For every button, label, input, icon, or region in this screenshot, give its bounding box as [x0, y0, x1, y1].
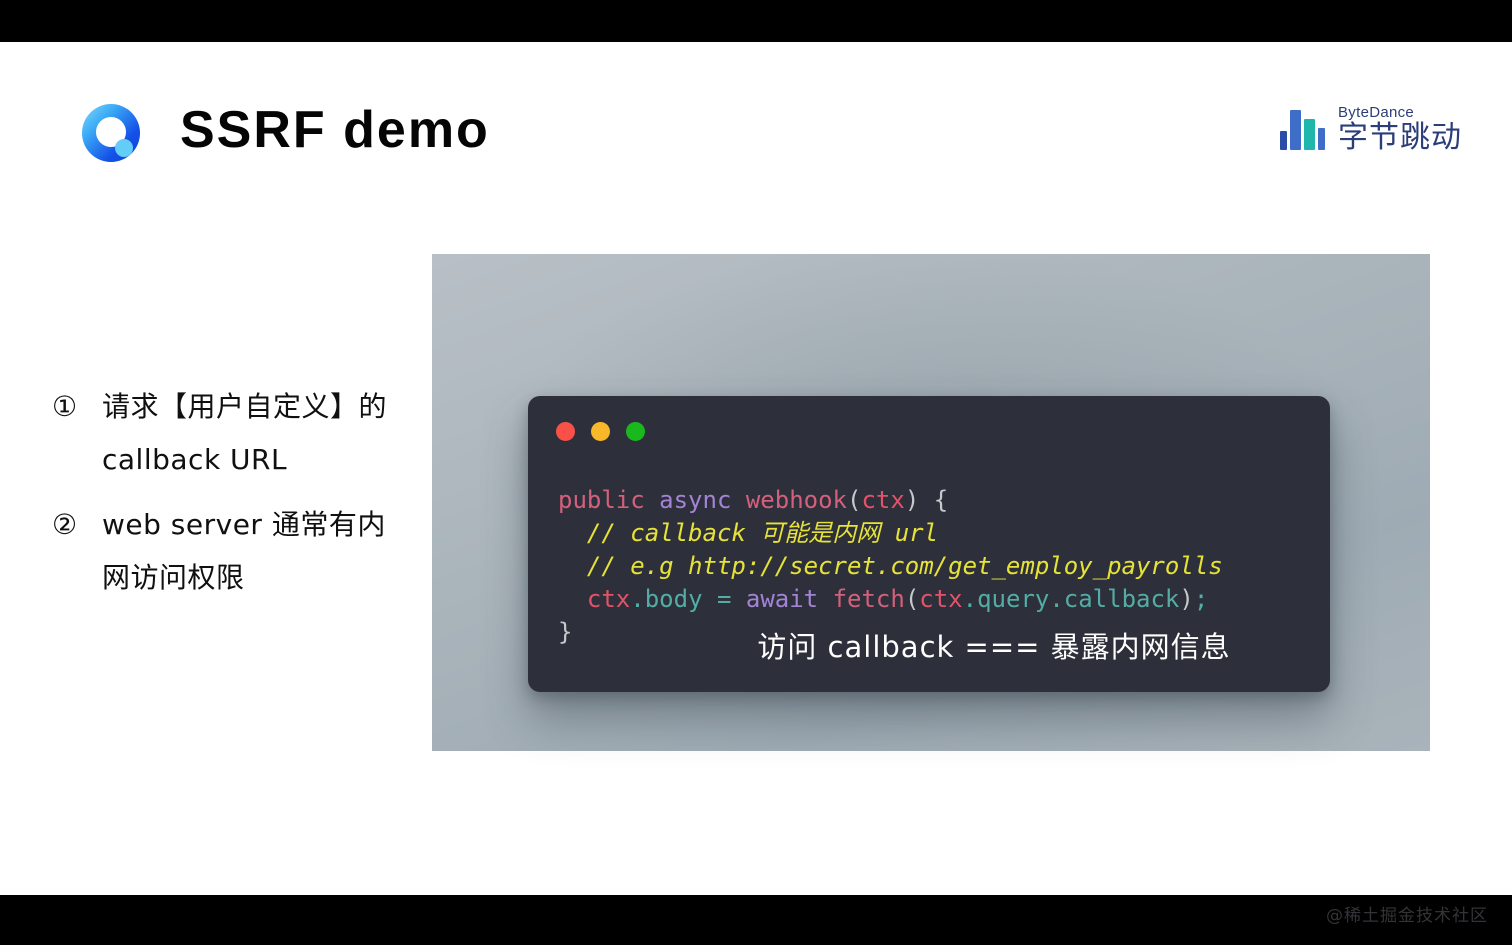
slide-canvas: SSRF demo ByteDance 字节跳动 ① 请求【用户自定义】的 ca…	[0, 42, 1512, 895]
code-token: {	[919, 486, 948, 514]
overlay-annotation: 访问 callback === 暴露内网信息	[528, 624, 1330, 666]
code-token: // e.g http://secret.com/get_employ_payr…	[558, 552, 1223, 580]
code-line: // e.g http://secret.com/get_employ_payr…	[558, 550, 1316, 583]
bytedance-bar-4	[1318, 128, 1325, 150]
code-token	[645, 486, 659, 514]
bullet-text: 请求【用户自定义】的 callback URL	[102, 380, 402, 486]
page-title: SSRF demo	[180, 100, 490, 160]
code-token: await	[746, 585, 818, 613]
code-line: // callback 可能是内网 url	[558, 517, 1316, 550]
bytedance-bar-2	[1290, 110, 1301, 150]
code-token: .query.callback	[963, 585, 1180, 613]
bullet-list: ① 请求【用户自定义】的 callback URL ② web server 通…	[52, 380, 402, 616]
code-window: public async webhook(ctx) { // callback …	[528, 396, 1330, 692]
code-token: .body	[630, 585, 702, 613]
code-token: )	[905, 486, 919, 514]
bullet-marker: ①	[52, 380, 102, 433]
code-token: async	[659, 486, 731, 514]
code-token: =	[703, 585, 746, 613]
code-token: )	[1179, 585, 1193, 613]
code-token: (	[847, 486, 861, 514]
slide-header: SSRF demo ByteDance 字节跳动	[0, 42, 1512, 172]
bytedance-bars-icon	[1280, 110, 1325, 150]
code-token	[818, 585, 832, 613]
code-token: ctx	[861, 486, 904, 514]
bullet-marker: ②	[52, 498, 102, 551]
letterbox-bar-top	[0, 0, 1512, 42]
bytedance-wordmark: ByteDance 字节跳动	[1338, 105, 1462, 156]
list-item: ① 请求【用户自定义】的 callback URL	[52, 380, 402, 486]
letterbox-bar-bottom	[0, 895, 1512, 945]
code-token: webhook	[746, 486, 847, 514]
bytedance-name-en: ByteDance	[1338, 105, 1462, 122]
window-traffic-lights	[556, 422, 645, 441]
code-token: ctx	[587, 585, 630, 613]
maximize-dot-icon[interactable]	[626, 422, 645, 441]
code-token: fetch	[833, 585, 905, 613]
bytedance-bar-3	[1304, 119, 1315, 150]
list-item: ② web server 通常有内网访问权限	[52, 498, 402, 604]
close-dot-icon[interactable]	[556, 422, 575, 441]
code-token	[558, 585, 587, 613]
code-token: public	[558, 486, 645, 514]
bytedance-logo: ByteDance 字节跳动	[1280, 99, 1462, 161]
bytedance-name-cn: 字节跳动	[1338, 121, 1462, 156]
code-token: // callback 可能是内网 url	[558, 519, 938, 547]
code-line: ctx.body = await fetch(ctx.query.callbac…	[558, 583, 1316, 616]
slide-screen: SSRF demo ByteDance 字节跳动 ① 请求【用户自定义】的 ca…	[0, 0, 1512, 945]
code-token: ctx	[919, 585, 962, 613]
quark-ring-dot	[115, 139, 133, 157]
bytedance-bar-1	[1280, 131, 1287, 150]
minimize-dot-icon[interactable]	[591, 422, 610, 441]
code-token: (	[905, 585, 919, 613]
watermark: @稀土掘金技术社区	[1326, 901, 1488, 926]
code-token	[731, 486, 745, 514]
quark-ring-icon	[82, 104, 140, 162]
code-screenshot-panel: public async webhook(ctx) { // callback …	[432, 254, 1430, 751]
code-token: ;	[1194, 585, 1208, 613]
code-line: public async webhook(ctx) {	[558, 484, 1316, 517]
bullet-text: web server 通常有内网访问权限	[102, 498, 402, 604]
